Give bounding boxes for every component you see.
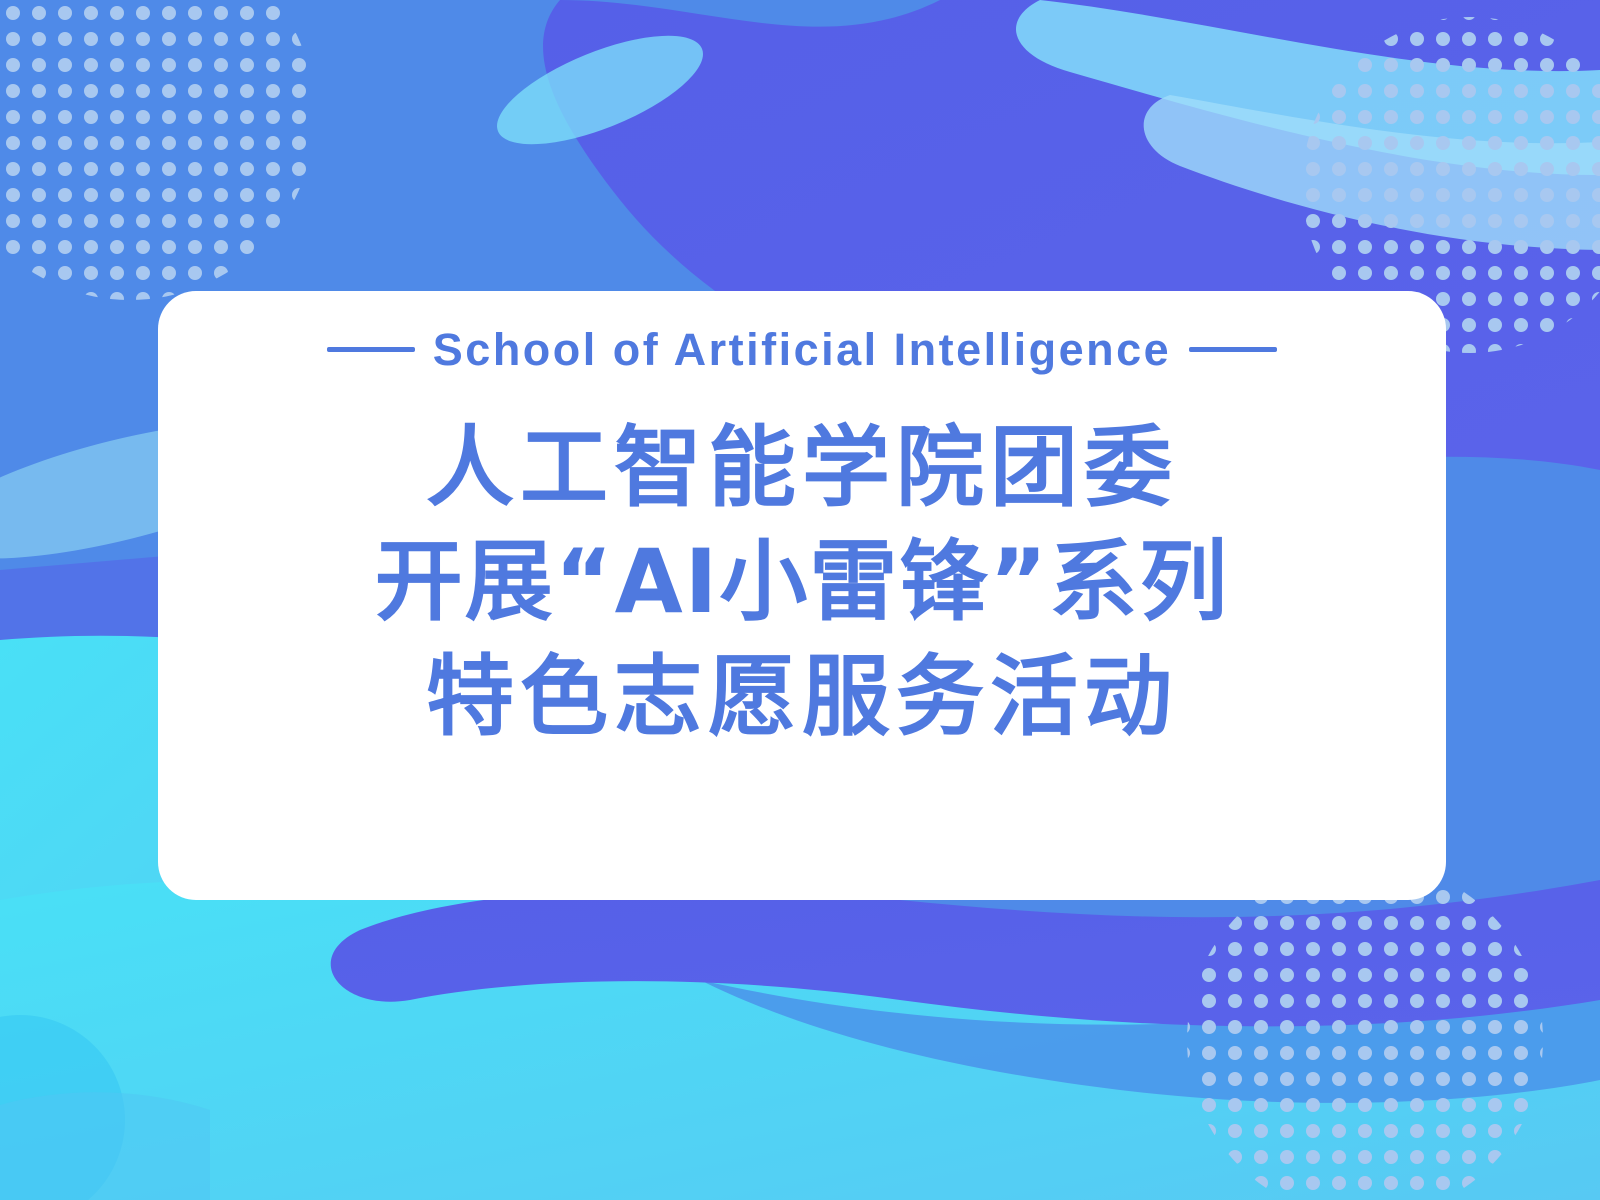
ribbon-top-right (1016, 0, 1600, 175)
eyebrow-row: School of Artificial Intelligence (158, 327, 1446, 372)
school-name-label: School of Artificial Intelligence (433, 327, 1171, 372)
dot-circle-top-left (0, 0, 360, 340)
headline-line-1: 人工智能学院团委 (158, 411, 1446, 525)
headline-block: 人工智能学院团委 开展“AI小雷锋”系列 特色志愿服务活动 (158, 411, 1446, 754)
headline-line-3: 特色志愿服务活动 (158, 640, 1446, 754)
headline-line-2: 开展“AI小雷锋”系列 (158, 525, 1446, 639)
band-bottom-right (700, 956, 1600, 1103)
rule-left-icon (327, 347, 415, 352)
ribbon-top-right-2 (1144, 95, 1600, 250)
rule-right-icon (1189, 347, 1277, 352)
blob-bottom-center (331, 880, 1600, 1026)
circle-bottom-left (0, 1015, 125, 1200)
poster-canvas: School of Artificial Intelligence 人工智能学院… (0, 0, 1600, 1200)
content-card: School of Artificial Intelligence 人工智能学院… (158, 291, 1446, 900)
ellipse-top-center (484, 14, 716, 167)
blob-bottom-cyan (0, 880, 1600, 1200)
blob-corner-bottom-left (0, 1092, 210, 1200)
